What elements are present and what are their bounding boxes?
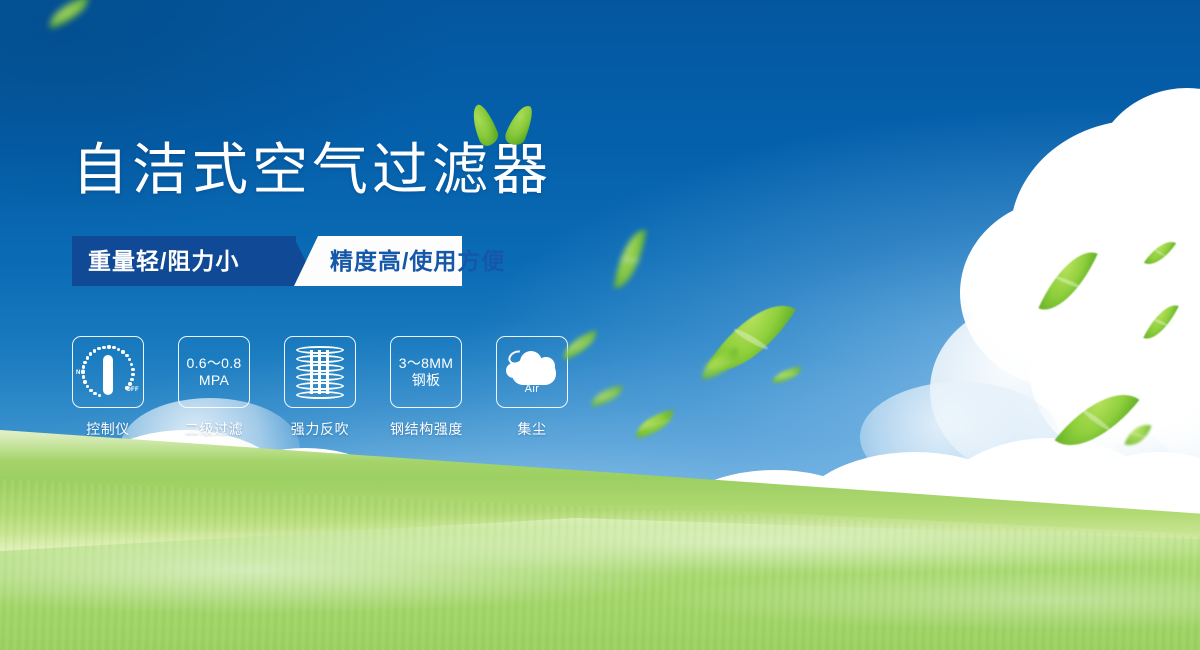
feature-icon-box: 3～8MM 钢板 [390,336,462,408]
cloud-air-icon: Air [504,347,560,397]
gauge-tick [107,345,110,348]
feature-item-controller[interactable]: NO OFF 控制仪 [72,336,144,439]
gauge-tick [93,349,96,352]
feature-label: 二级过滤 [178,419,250,439]
feature-icon-box: Air [496,336,568,408]
gauge-tick [83,361,86,364]
gauge-tick [97,347,100,350]
feature-label: 钢结构强度 [390,419,462,439]
feature-icon-box [284,336,356,408]
feature-icon-box: NO OFF [72,336,144,408]
gauge-tick [102,346,105,349]
leaf-sprout-icon [472,104,542,152]
gauge-tick [130,378,133,381]
steel-thickness: 3～8MM [399,355,453,372]
feature-item-dust[interactable]: Air 集尘 [496,336,568,439]
gauge-icon: NO OFF [78,343,138,401]
steel-text-icon: 3～8MM 钢板 [399,355,453,389]
sprout-leaf-left [467,102,501,148]
subtitle-bar: 重量轻/阻力小 精度高/使用方便 [72,236,462,286]
cloud-body [512,361,556,385]
feature-item-two-stage[interactable]: 0.6～0.8 MPA 二级过滤 [178,336,250,439]
gauge-tick [89,352,92,355]
feature-label: 强力反吹 [284,419,356,439]
gauge-tick [128,382,131,385]
sprout-leaf-right [503,102,537,148]
promo-banner: 自洁式空气过滤器 重量轻/阻力小 精度高/使用方便 NO OFF 控制仪 0.6… [0,0,1200,650]
gauge-tick [82,365,85,368]
coil-bar [326,350,329,394]
gauge-tick [98,394,101,397]
gauge-tick [125,386,128,389]
gauge-tick [121,350,124,353]
gauge-needle [103,355,113,395]
pressure-unit: MPA [186,372,241,389]
gauge-tick [131,373,134,376]
gauge-tick [86,385,89,388]
feature-item-steel[interactable]: 3～8MM 钢板 钢结构强度 [390,336,462,439]
pressure-text-icon: 0.6～0.8 MPA [186,355,241,389]
gauge-tick [117,348,120,351]
feature-item-backblow[interactable]: 强力反吹 [284,336,356,439]
gauge-tick [128,358,131,361]
feature-icon-box: 0.6～0.8 MPA [178,336,250,408]
gauge-tick [82,375,85,378]
air-label: Air [504,383,560,395]
gauge-tick [130,363,133,366]
gauge-tick [89,389,92,392]
title-block: 自洁式空气过滤器 [72,140,552,200]
gauge-tick [86,356,89,359]
coil-bar [310,350,313,394]
pressure-value: 0.6～0.8 [186,355,241,372]
feature-label: 控制仪 [72,419,144,439]
subtitle-left-text: 重量轻/阻力小 [88,236,239,286]
coil-bar [318,350,321,394]
steel-material: 钢板 [399,372,453,389]
gauge-tick [112,346,115,349]
gauge-tick [93,392,96,395]
gauge-tick [131,368,134,371]
subtitle-right-text: 精度高/使用方便 [330,236,505,286]
gauge-tick [81,370,84,373]
coil-icon [296,346,344,398]
gauge-tick [125,354,128,357]
feature-icon-row: NO OFF 控制仪 0.6～0.8 MPA 二级过滤 强力反吹 [72,336,568,439]
feature-label: 集尘 [496,419,568,439]
gauge-tick [83,380,86,383]
